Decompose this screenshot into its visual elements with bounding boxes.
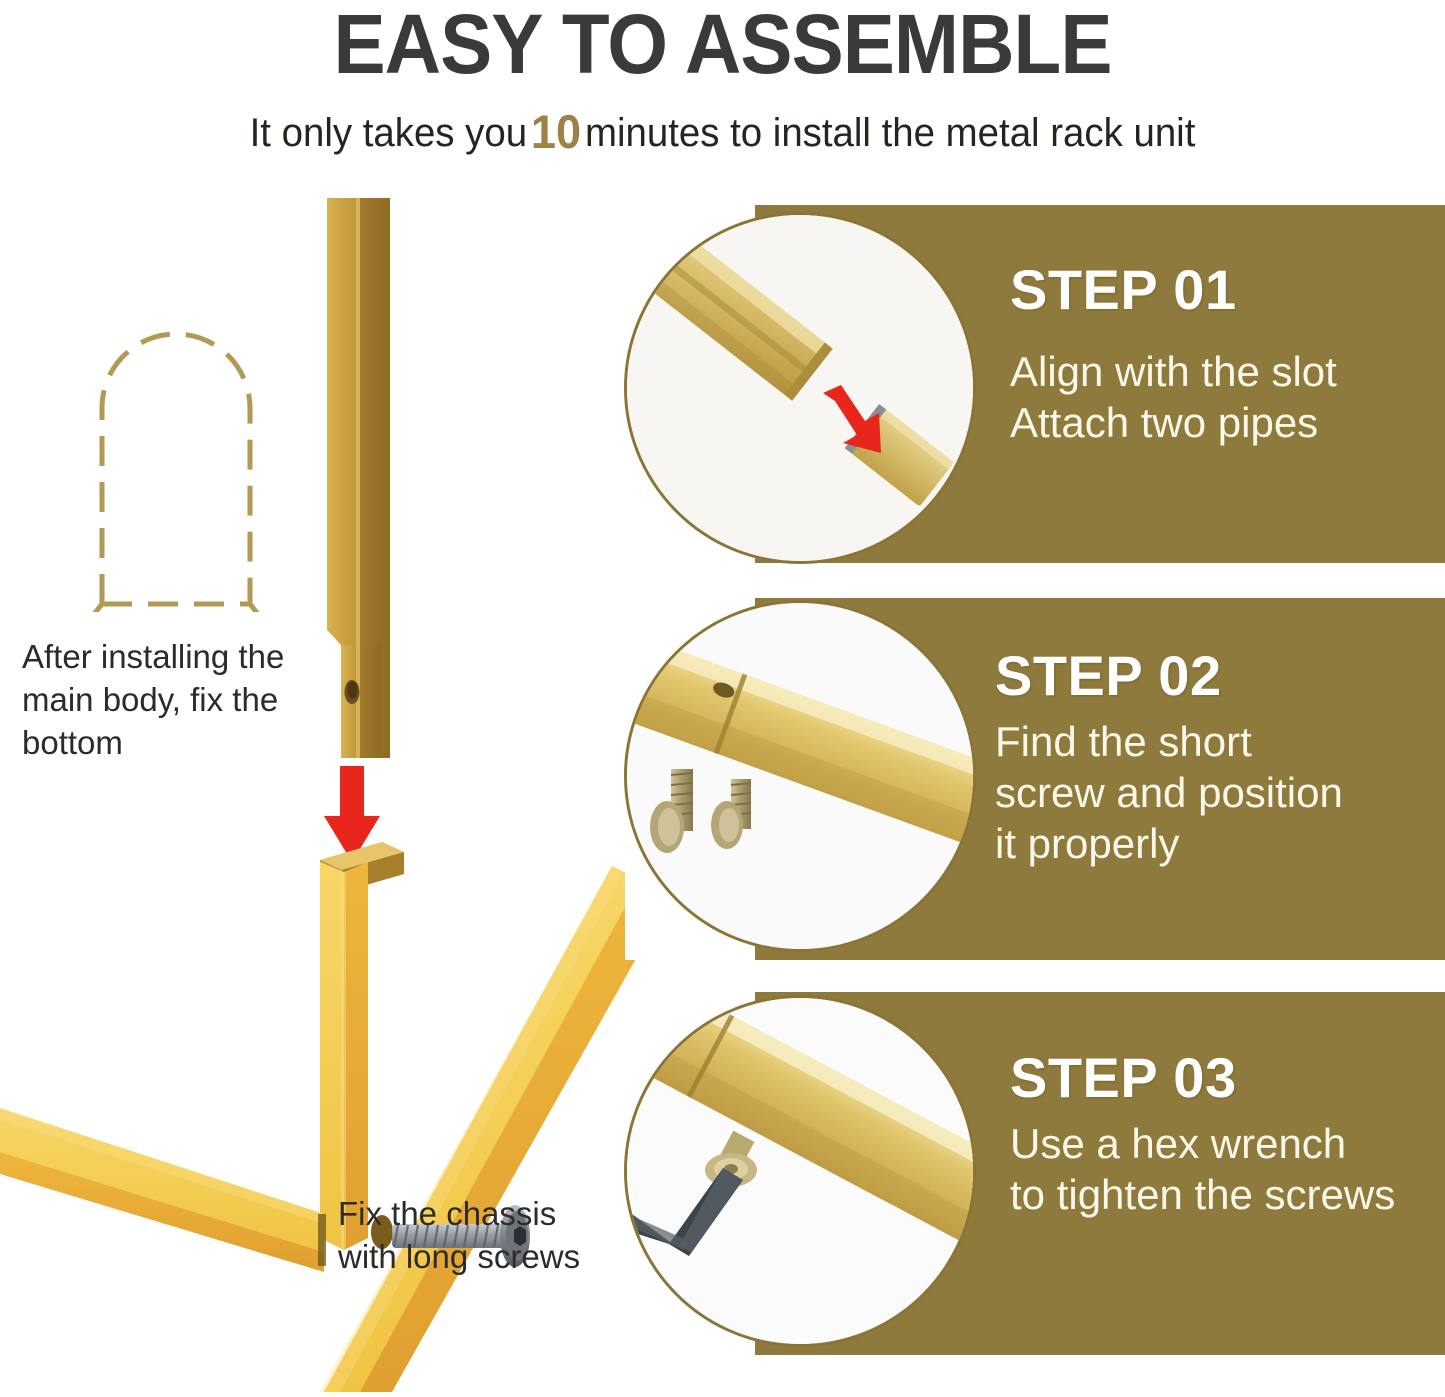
header: EASY TO ASSEMBLE It only takes you10minu… bbox=[0, 0, 1445, 190]
step-02-body-line-2: screw and position bbox=[995, 767, 1343, 818]
subtitle-text-before: It only takes you bbox=[250, 111, 527, 155]
chassis-left-bar bbox=[0, 1108, 326, 1272]
step-03-photo bbox=[624, 995, 976, 1347]
step-03-body: Use a hex wrench to tighten the screws bbox=[1010, 1118, 1395, 1220]
step-02-text: STEP 02 Find the short screw and positio… bbox=[995, 648, 1343, 870]
step-03-heading: STEP 03 bbox=[1010, 1050, 1395, 1106]
vertical-pipe bbox=[327, 198, 390, 758]
step-01-body-line-1: Align with the slot bbox=[1010, 346, 1337, 397]
step-01-body-line-2: Attach two pipes bbox=[1010, 397, 1337, 448]
chassis-caption-line-1: Fix the chassis bbox=[338, 1193, 628, 1236]
subtitle-text-after: minutes to install the metal rack unit bbox=[585, 111, 1195, 155]
step-01-body: Align with the slot Attach two pipes bbox=[1010, 346, 1337, 448]
step-02-body: Find the short screw and position it pro… bbox=[995, 716, 1343, 870]
page-subtitle: It only takes you10minutes to install th… bbox=[29, 104, 1416, 159]
step-01-text: STEP 01 Align with the slot Attach two p… bbox=[1010, 262, 1337, 448]
chassis-caption-line-2: with long screws bbox=[338, 1236, 628, 1279]
subtitle-minutes-number: 10 bbox=[527, 105, 585, 158]
step-02-heading: STEP 02 bbox=[995, 648, 1343, 704]
chassis-caption: Fix the chassis with long screws bbox=[338, 1193, 628, 1279]
step-02-photo bbox=[624, 600, 976, 952]
step-01-heading: STEP 01 bbox=[1010, 262, 1337, 318]
chassis-vertical-post bbox=[320, 862, 368, 1250]
step-01-photo bbox=[624, 212, 976, 564]
step-03-text: STEP 03 Use a hex wrench to tighten the … bbox=[1010, 1050, 1395, 1220]
step-02-body-line-3: it properly bbox=[995, 818, 1343, 869]
step-03-body-line-2: to tighten the screws bbox=[1010, 1169, 1395, 1220]
page-title: EASY TO ASSEMBLE bbox=[51, 2, 1395, 86]
step-02-body-line-1: Find the short bbox=[995, 716, 1343, 767]
step-03-body-line-1: Use a hex wrench bbox=[1010, 1118, 1395, 1169]
